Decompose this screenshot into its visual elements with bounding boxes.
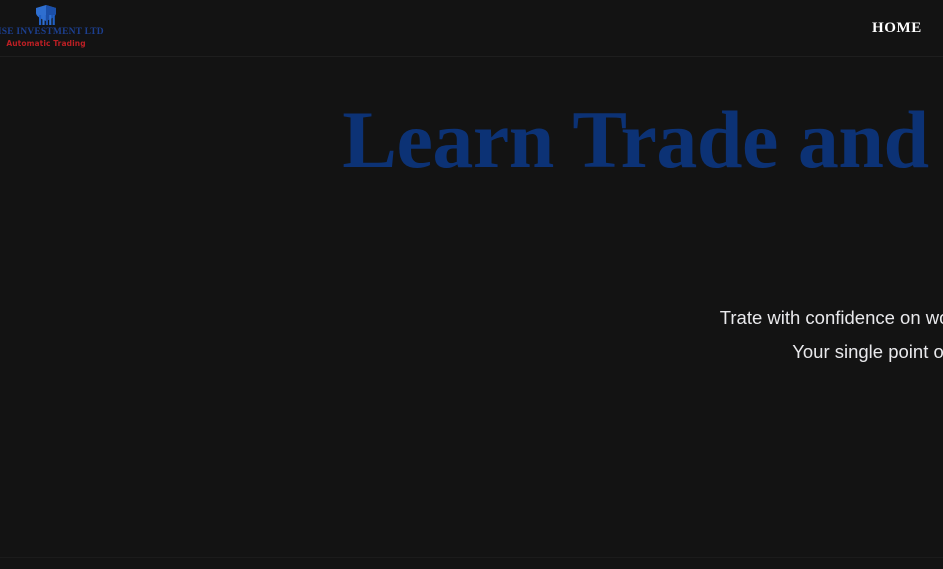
nav-item-home[interactable]: HOME — [872, 20, 922, 37]
hero-content: Learn Trade and Earn With Us Trate with … — [317, 57, 943, 483]
hero-description-line: Trate with confidence on world's leading… — [317, 301, 943, 335]
footer-divider — [0, 557, 943, 558]
hero-description: Trate with confidence on world's leading… — [317, 301, 943, 403]
brand-logo[interactable]: WISE INVESTMENT LTD Automatic Trading — [4, 4, 88, 47]
hero-section: Learn Trade and Earn With Us Trate with … — [0, 57, 943, 569]
hero-description-line: Built for investors interested in stable… — [317, 369, 943, 403]
building-shield-icon — [33, 4, 59, 26]
brand-tagline: Automatic Trading — [6, 40, 85, 48]
hero-cta-row: LEARN MORE — [317, 445, 943, 483]
page-root: WISE INVESTMENT LTD Automatic Trading HO… — [0, 0, 943, 569]
hero-description-line: Your single point of access to professio… — [317, 335, 943, 369]
brand-name: WISE INVESTMENT LTD — [0, 28, 104, 38]
site-header: WISE INVESTMENT LTD Automatic Trading HO… — [0, 0, 943, 57]
hero-headline: Learn Trade and Earn With Us — [317, 100, 943, 259]
main-navigation: HOME ABOUT — [872, 0, 943, 57]
